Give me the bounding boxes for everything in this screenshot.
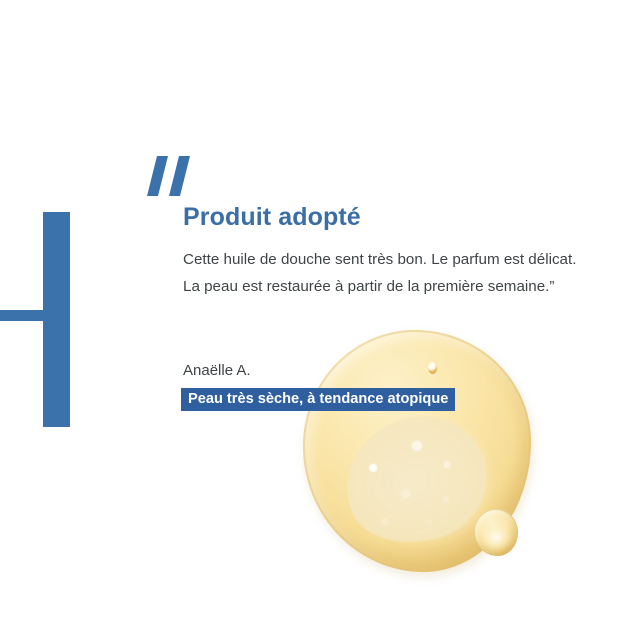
- testimonial-heading: Produit adopté: [183, 204, 583, 232]
- oil-droplet-large-rim: [303, 330, 531, 572]
- testimonial-quote-text: Cette huile de douche sent très bon. Le …: [183, 246, 579, 300]
- brand-mark-crossbar: [0, 310, 48, 321]
- brand-mark-partial-h-icon: [0, 190, 110, 450]
- quotation-mark-icon: [148, 156, 204, 200]
- oil-droplet-large: [303, 330, 531, 572]
- skin-type-badge: Peau très sèche, à tendance atopique: [181, 388, 455, 411]
- oil-droplet-small: [474, 509, 518, 556]
- oil-droplet-bubble: [428, 362, 437, 374]
- oil-droplet-foam-texture: [329, 399, 502, 561]
- testimonial-card: Produit adopté Cette huile de douche sen…: [0, 0, 640, 640]
- quotation-mark-bar-left: [147, 156, 168, 196]
- testimonial-content: Produit adopté Cette huile de douche sen…: [183, 204, 583, 300]
- brand-mark-vertical-stem: [43, 212, 70, 427]
- shower-oil-droplet-image: [0, 0, 640, 640]
- reviewer-name: Anaëlle A.: [183, 362, 251, 380]
- oil-droplet-small-rim: [474, 509, 518, 556]
- quotation-mark-bar-right: [169, 156, 190, 196]
